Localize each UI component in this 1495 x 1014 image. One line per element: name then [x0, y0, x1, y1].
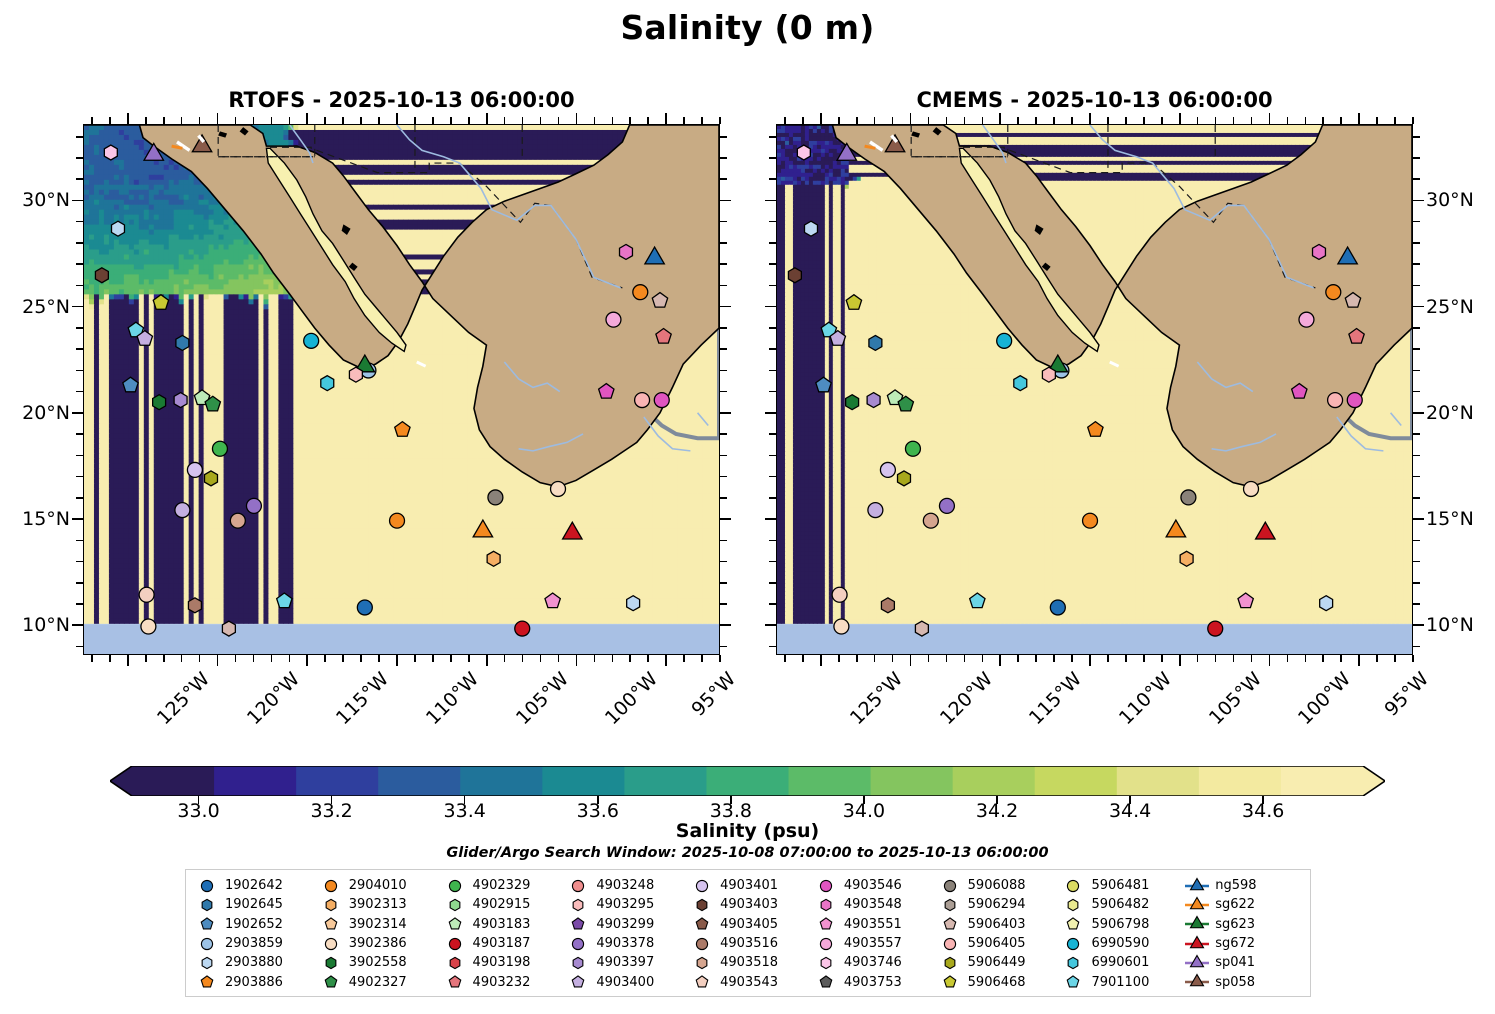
- ytick-l-cmems: [769, 348, 776, 350]
- legend-item[interactable]: 4903746: [811, 953, 935, 972]
- ytick-r-cmems: [1413, 433, 1420, 435]
- legend-item[interactable]: 4903546: [811, 876, 935, 895]
- colorbar-tick-label: 33.2: [310, 800, 352, 822]
- legend-label: 2904010: [349, 878, 407, 893]
- xtick-top-rtofs: [235, 117, 237, 124]
- xaxis-tick-label: 120°W: [935, 668, 996, 729]
- platform-marker: [246, 498, 261, 513]
- xtick-top-rtofs: [701, 117, 703, 124]
- ytick-l-cmems: [769, 476, 776, 478]
- ytick-r-rtofs: [720, 518, 731, 520]
- legend-label: 1902652: [225, 917, 283, 932]
- platform-marker: [141, 619, 156, 634]
- ytick-l-rtofs: [76, 136, 83, 138]
- pentagon-icon: [565, 915, 591, 933]
- xtick-top-rtofs: [396, 113, 398, 124]
- xtick-top-cmems: [1143, 117, 1145, 124]
- legend-item[interactable]: 4903405: [687, 915, 811, 934]
- platform-legend[interactable]: 1902642190264519026522903859290388029038…: [185, 869, 1311, 997]
- xtick-rtofs: [217, 655, 219, 666]
- xtick-rtofs: [450, 655, 452, 662]
- xtick-cmems: [1269, 655, 1271, 666]
- platform-marker: [95, 268, 108, 283]
- yaxis-tick-label-left: 10°N: [0, 614, 70, 636]
- platform-marker: [915, 621, 928, 636]
- hexagon-icon: [318, 896, 344, 914]
- xtick-cmems: [1412, 655, 1414, 662]
- xtick-cmems: [1053, 655, 1055, 662]
- xtick-rtofs: [271, 655, 273, 662]
- xtick-top-cmems: [784, 117, 786, 124]
- ytick-r-cmems: [1413, 391, 1420, 393]
- ytick-r-cmems: [1413, 603, 1420, 605]
- yaxis-tick-label-right: 25°N: [1426, 296, 1495, 318]
- xtick-top-cmems: [1322, 117, 1324, 124]
- platform-marker: [395, 422, 410, 437]
- hexagon-icon: [813, 896, 839, 914]
- legend-item[interactable]: 4903516: [687, 934, 811, 953]
- ytick-r-cmems: [1413, 455, 1420, 457]
- xtick-cmems: [1233, 655, 1235, 662]
- legend-label: 4903198: [473, 955, 531, 970]
- legend-label: 4903397: [596, 955, 654, 970]
- circle-icon: [194, 935, 220, 953]
- xtick-cmems: [1287, 655, 1289, 662]
- platform-marker: [633, 285, 648, 300]
- xtick-top-rtofs: [414, 117, 416, 124]
- xtick-top-cmems: [1197, 117, 1199, 124]
- legend-item[interactable]: 4902329: [440, 876, 564, 895]
- ytick-l-rtofs: [72, 200, 83, 202]
- ytick-r-rtofs: [720, 136, 727, 138]
- legend-label: 4903746: [844, 955, 902, 970]
- ytick-l-cmems: [769, 221, 776, 223]
- hexagon-icon: [194, 954, 220, 972]
- xtick-top-rtofs: [576, 113, 578, 124]
- ytick-r-rtofs: [720, 646, 727, 648]
- legend-item[interactable]: 5906405: [935, 934, 1059, 953]
- xtick-top-cmems: [802, 117, 804, 124]
- xtick-top-rtofs: [594, 117, 596, 124]
- legend-label: 4903753: [844, 975, 902, 990]
- xtick-top-cmems: [964, 117, 966, 124]
- ytick-l-rtofs: [76, 455, 83, 457]
- platform-marker: [188, 598, 201, 613]
- xtick-rtofs: [342, 655, 344, 662]
- xtick-top-rtofs: [629, 117, 631, 124]
- legend-label: 5906798: [1091, 917, 1149, 932]
- legend-item[interactable]: 4903753: [811, 973, 935, 992]
- legend-label: 4903516: [720, 936, 778, 951]
- circle-icon: [937, 877, 963, 895]
- xtick-cmems: [892, 655, 894, 662]
- xtick-top-cmems: [1305, 117, 1307, 124]
- platform-marker: [816, 377, 831, 392]
- xtick-top-rtofs: [378, 117, 380, 124]
- ytick-l-cmems: [769, 455, 776, 457]
- colorbar-title: Salinity (psu): [0, 820, 1495, 842]
- legend-label: 4903405: [720, 917, 778, 932]
- legend-label: 5906403: [968, 917, 1026, 932]
- legend-item[interactable]: sg623: [1182, 915, 1306, 934]
- legend-item[interactable]: 4903232: [440, 973, 564, 992]
- legend-item[interactable]: 2903880: [192, 953, 316, 972]
- legend-label: 1902645: [225, 897, 283, 912]
- legend-label: 5906294: [968, 897, 1026, 912]
- legend-item[interactable]: sp041: [1182, 953, 1306, 972]
- xtick-top-cmems: [1376, 117, 1378, 124]
- ytick-l-cmems: [769, 540, 776, 542]
- legend-label: 2903886: [225, 975, 283, 990]
- legend-item[interactable]: 5906481: [1058, 876, 1182, 895]
- legend-label: sg622: [1215, 897, 1255, 912]
- platform-marker: [153, 395, 166, 410]
- platform-marker: [898, 471, 911, 486]
- ytick-r-cmems: [1413, 221, 1420, 223]
- legend-item[interactable]: 1902645: [192, 895, 316, 914]
- ytick-r-cmems: [1413, 263, 1420, 265]
- legend-item[interactable]: sp058: [1182, 973, 1306, 992]
- legend-item[interactable]: 3902386: [316, 934, 440, 953]
- legend-item[interactable]: 4903187: [440, 934, 564, 953]
- legend-item[interactable]: 6990601: [1058, 953, 1182, 972]
- xtick-rtofs: [665, 655, 667, 666]
- platform-marker: [939, 498, 954, 513]
- ytick-r-cmems: [1413, 306, 1424, 308]
- platform-marker: [846, 395, 859, 410]
- xtick-cmems: [1107, 655, 1109, 662]
- xtick-rtofs: [683, 655, 685, 662]
- yaxis-tick-label-right: 20°N: [1426, 402, 1495, 424]
- ytick-r-rtofs: [720, 455, 727, 457]
- legend-label: 1902642: [225, 878, 283, 893]
- legend-item[interactable]: 2903886: [192, 973, 316, 992]
- xtick-cmems: [784, 655, 786, 662]
- legend-label: 7901100: [1091, 975, 1149, 990]
- legend-item[interactable]: 4903299: [563, 915, 687, 934]
- legend-item[interactable]: 4903401: [687, 876, 811, 895]
- xtick-cmems: [1394, 655, 1396, 662]
- platform-marker: [1208, 621, 1223, 636]
- circle-icon: [813, 935, 839, 953]
- legend-item[interactable]: 2903859: [192, 934, 316, 953]
- legend-item[interactable]: ng598: [1182, 876, 1306, 895]
- ytick-l-cmems: [769, 327, 776, 329]
- ytick-l-cmems: [769, 285, 776, 287]
- hexagon-icon: [689, 954, 715, 972]
- hexagon-icon: [565, 896, 591, 914]
- xtick-top-rtofs: [181, 117, 183, 124]
- legend-label: 4903400: [596, 975, 654, 990]
- xtick-rtofs: [324, 655, 326, 662]
- legend-grid: 1902642190264519026522903859290388029038…: [192, 876, 1306, 992]
- platform-marker: [652, 293, 667, 308]
- xtick-top-rtofs: [522, 117, 524, 124]
- legend-item[interactable]: 4902327: [316, 973, 440, 992]
- ytick-r-cmems: [1413, 561, 1420, 563]
- xtick-rtofs: [163, 655, 165, 662]
- triangle-icon: [1184, 877, 1210, 895]
- xtick-cmems: [964, 655, 966, 662]
- xtick-top-rtofs: [432, 117, 434, 124]
- xtick-cmems: [999, 655, 1001, 666]
- legend-label: 4903183: [473, 917, 531, 932]
- legend-item[interactable]: 1902652: [192, 915, 316, 934]
- xtick-rtofs: [145, 655, 147, 662]
- platform-marker: [205, 471, 218, 486]
- legend-item[interactable]: 5906798: [1058, 915, 1182, 934]
- xtick-cmems: [874, 655, 876, 662]
- xtick-top-cmems: [1251, 117, 1253, 124]
- circle-icon: [689, 877, 715, 895]
- legend-item[interactable]: 3902313: [316, 895, 440, 914]
- ytick-r-rtofs: [720, 540, 727, 542]
- xtick-top-rtofs: [91, 117, 93, 124]
- ytick-r-rtofs: [720, 624, 731, 626]
- xtick-top-rtofs: [199, 117, 201, 124]
- legend-item[interactable]: 3902314: [316, 915, 440, 934]
- map-panel-rtofs[interactable]: [83, 124, 720, 655]
- hexagon-icon: [318, 954, 344, 972]
- pentagon-icon: [318, 915, 344, 933]
- colorbar-tick-label: 33.4: [444, 800, 486, 822]
- platform-marker: [123, 377, 138, 392]
- platform-marker: [599, 384, 614, 399]
- ytick-r-rtofs: [720, 157, 727, 159]
- platform-marker: [321, 376, 334, 391]
- xtick-cmems: [1071, 655, 1073, 662]
- xtick-top-cmems: [982, 117, 984, 124]
- platform-marker: [970, 593, 985, 608]
- xaxis-tick-label: 115°W: [332, 668, 393, 729]
- legend-label: 4903378: [596, 936, 654, 951]
- platform-marker: [656, 329, 671, 344]
- xtick-rtofs: [486, 655, 488, 666]
- ytick-l-cmems: [769, 391, 776, 393]
- platform-marker: [880, 462, 895, 477]
- legend-item[interactable]: 5906482: [1058, 895, 1182, 914]
- xtick-rtofs: [181, 655, 183, 662]
- triangle-icon: [1184, 896, 1210, 914]
- xtick-cmems: [1305, 655, 1307, 662]
- ytick-r-cmems: [1413, 370, 1420, 372]
- legend-item[interactable]: 4902915: [440, 895, 564, 914]
- xtick-top-cmems: [892, 117, 894, 124]
- legend-item[interactable]: 2904010: [316, 876, 440, 895]
- platform-markers-cmems[interactable]: [777, 125, 1412, 654]
- legend-item[interactable]: 4903557: [811, 934, 935, 953]
- legend-item[interactable]: 4903295: [563, 895, 687, 914]
- colorbar-tick-label: 33.8: [710, 800, 752, 822]
- xtick-cmems: [838, 655, 840, 662]
- legend-label: 4903299: [596, 917, 654, 932]
- yaxis-tick-label-left: 20°N: [0, 402, 70, 424]
- legend-item[interactable]: 5906403: [935, 915, 1059, 934]
- xtick-top-cmems: [820, 113, 822, 124]
- legend-label: 5906468: [968, 975, 1026, 990]
- ytick-r-rtofs: [720, 391, 727, 393]
- ytick-l-rtofs: [76, 476, 83, 478]
- legend-item[interactable]: 4903548: [811, 895, 935, 914]
- yaxis-tick-label-left: 25°N: [0, 296, 70, 318]
- legend-item[interactable]: 4903543: [687, 973, 811, 992]
- ytick-l-rtofs: [72, 624, 83, 626]
- xtick-top-cmems: [1233, 117, 1235, 124]
- xtick-cmems: [1376, 655, 1378, 662]
- platform-marker: [1238, 593, 1253, 608]
- colorbar-tick-label: 34.0: [843, 800, 885, 822]
- legend-label: 4903248: [596, 878, 654, 893]
- legend-item[interactable]: 3902558: [316, 953, 440, 972]
- xtick-top-cmems: [946, 117, 948, 124]
- legend-label: 4903551: [844, 917, 902, 932]
- xtick-top-rtofs: [271, 117, 273, 124]
- platform-marker: [104, 145, 117, 160]
- triangle-icon: [1184, 935, 1210, 953]
- platform-marker: [1042, 367, 1055, 382]
- xtick-top-rtofs: [486, 113, 488, 124]
- platform-markers-rtofs[interactable]: [84, 125, 719, 654]
- xtick-cmems: [802, 655, 804, 662]
- ytick-l-rtofs: [76, 603, 83, 605]
- xtick-top-cmems: [999, 113, 1001, 124]
- ytick-l-cmems: [769, 178, 776, 180]
- xtick-rtofs: [468, 655, 470, 662]
- legend-item[interactable]: 4903403: [687, 895, 811, 914]
- circle-icon: [565, 935, 591, 953]
- ytick-r-rtofs: [720, 433, 727, 435]
- xtick-rtofs: [701, 655, 703, 662]
- platform-marker: [1088, 422, 1103, 437]
- xtick-top-rtofs: [450, 117, 452, 124]
- legend-item[interactable]: 4903183: [440, 915, 564, 934]
- platform-marker: [176, 335, 189, 350]
- ytick-l-rtofs: [72, 412, 83, 414]
- ytick-l-cmems: [765, 200, 776, 202]
- xtick-top-cmems: [1412, 117, 1414, 124]
- yaxis-tick-label-left: 30°N: [0, 189, 70, 211]
- platform-marker: [277, 593, 292, 608]
- ytick-r-rtofs: [720, 327, 727, 329]
- xtick-cmems: [1125, 655, 1127, 662]
- legend-item[interactable]: sg672: [1182, 934, 1306, 953]
- legend-item[interactable]: 4903400: [563, 973, 687, 992]
- legend-item[interactable]: 5906088: [935, 876, 1059, 895]
- figure-title: Salinity (0 m): [0, 8, 1495, 47]
- ytick-l-rtofs: [76, 327, 83, 329]
- platform-marker: [1180, 551, 1193, 566]
- pentagon-icon: [937, 915, 963, 933]
- legend-item[interactable]: 4903378: [563, 934, 687, 953]
- colorbar-tick-label: 34.2: [976, 800, 1018, 822]
- legend-label: 3902558: [349, 955, 407, 970]
- platform-marker: [1338, 247, 1357, 264]
- panel-title-cmems: CMEMS - 2025-10-13 06:00:00: [776, 88, 1413, 112]
- ytick-r-cmems: [1413, 157, 1420, 159]
- legend-item[interactable]: 1902642: [192, 876, 316, 895]
- circle-icon: [442, 935, 468, 953]
- ytick-r-rtofs: [720, 178, 727, 180]
- hexagon-icon: [1060, 896, 1086, 914]
- xaxis-tick-label: 105°W: [1205, 668, 1266, 729]
- ytick-l-rtofs: [76, 285, 83, 287]
- legend-item[interactable]: 4903198: [440, 953, 564, 972]
- legend-item[interactable]: 5906468: [935, 973, 1059, 992]
- legend-label: sp058: [1215, 975, 1255, 990]
- xtick-cmems: [1143, 655, 1145, 662]
- colorbar[interactable]: [110, 766, 1385, 796]
- legend-item[interactable]: 7901100: [1058, 973, 1182, 992]
- legend-item[interactable]: sg622: [1182, 895, 1306, 914]
- legend-label: ng598: [1215, 878, 1256, 893]
- platform-marker: [187, 462, 202, 477]
- ytick-r-rtofs: [720, 306, 731, 308]
- legend-item[interactable]: 6990590: [1058, 934, 1182, 953]
- yaxis-tick-label-right: 30°N: [1426, 189, 1495, 211]
- legend-label: 4902915: [473, 897, 531, 912]
- legend-label: sp041: [1215, 955, 1255, 970]
- xtick-rtofs: [414, 655, 416, 662]
- xtick-top-rtofs: [719, 117, 721, 124]
- platform-marker: [788, 268, 801, 283]
- xaxis-tick-label: 110°W: [1115, 668, 1176, 729]
- ytick-l-rtofs: [76, 157, 83, 159]
- xtick-top-rtofs: [540, 117, 542, 124]
- legend-item[interactable]: 4903248: [563, 876, 687, 895]
- legend-label: 4903543: [720, 975, 778, 990]
- hexagon-icon: [937, 954, 963, 972]
- legend-item[interactable]: 4903551: [811, 915, 935, 934]
- ytick-r-rtofs: [720, 561, 727, 563]
- legend-label: 3902313: [349, 897, 407, 912]
- xtick-cmems: [1035, 655, 1037, 662]
- ytick-r-cmems: [1413, 285, 1420, 287]
- platform-marker: [487, 551, 500, 566]
- xaxis-tick-label: 105°W: [512, 668, 573, 729]
- legend-item[interactable]: 5906294: [935, 895, 1059, 914]
- ytick-r-rtofs: [720, 476, 727, 478]
- xtick-cmems: [1358, 655, 1360, 666]
- legend-item[interactable]: 4903397: [563, 953, 687, 972]
- platform-marker: [390, 513, 405, 528]
- platform-marker: [868, 503, 883, 518]
- legend-label: 5906481: [1091, 878, 1149, 893]
- xtick-cmems: [856, 655, 858, 662]
- legend-item[interactable]: 5906449: [935, 953, 1059, 972]
- ytick-l-rtofs: [76, 433, 83, 435]
- ytick-l-cmems: [769, 157, 776, 159]
- platform-marker: [212, 441, 227, 456]
- platform-marker: [1299, 312, 1314, 327]
- xtick-top-rtofs: [612, 117, 614, 124]
- ytick-r-cmems: [1413, 624, 1424, 626]
- xtick-top-cmems: [1107, 117, 1109, 124]
- legend-item[interactable]: 4903518: [687, 953, 811, 972]
- map-panel-cmems[interactable]: [776, 124, 1413, 655]
- platform-marker: [805, 221, 818, 236]
- ytick-l-rtofs: [76, 561, 83, 563]
- platform-marker: [473, 520, 492, 537]
- ytick-l-cmems: [765, 518, 776, 520]
- ytick-l-cmems: [769, 242, 776, 244]
- xtick-top-cmems: [1161, 117, 1163, 124]
- platform-marker: [606, 312, 621, 327]
- xtick-top-rtofs: [360, 117, 362, 124]
- ytick-r-rtofs: [720, 497, 727, 499]
- xtick-cmems: [1161, 655, 1163, 662]
- platform-marker: [797, 145, 810, 160]
- platform-marker: [488, 490, 503, 505]
